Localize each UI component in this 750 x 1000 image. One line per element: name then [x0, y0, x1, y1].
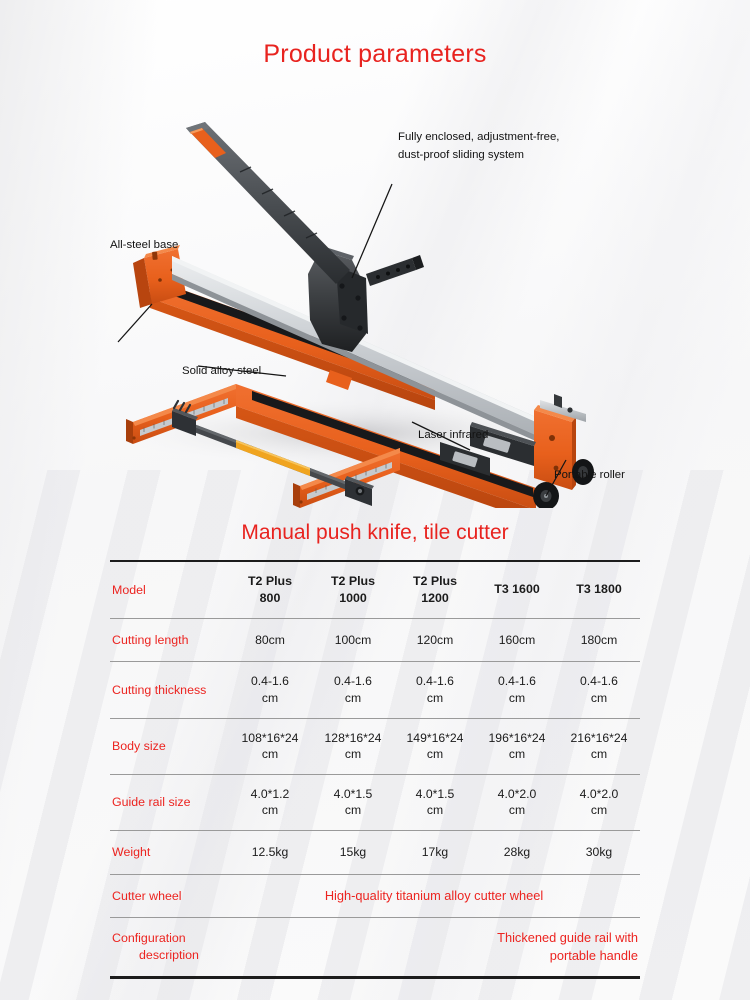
- model-cell-3-line1: T2 Plus: [396, 573, 474, 590]
- guide-rail-1-line1: 4.0*1.2: [230, 786, 310, 803]
- guide-rail-4: 4.0*2.0 cm: [476, 774, 558, 830]
- cutter-wheel-value: High-quality titanium alloy cutter wheel: [228, 874, 640, 918]
- row-label-weight: Weight: [110, 830, 228, 874]
- config-value-line1: Thickened guide rail with: [230, 929, 638, 947]
- table-row-cutter-wheel: Cutter wheel High-quality titanium alloy…: [110, 874, 640, 918]
- cutting-thickness-2: 0.4-1.6 cm: [312, 662, 394, 718]
- guide-rail-3-line1: 4.0*1.5: [396, 786, 474, 803]
- leader-sliding-system: [352, 184, 392, 278]
- body-size-5-line1: 216*16*24: [560, 730, 638, 747]
- table-row-weight: Weight 12.5kg 15kg 17kg 28kg 30kg: [110, 830, 640, 874]
- table-row-configuration-description: Configuration description Thickened guid…: [110, 918, 640, 978]
- body-size-3-line2: cm: [396, 746, 474, 763]
- cutting-thickness-4-line1: 0.4-1.6: [478, 673, 556, 690]
- body-size-1: 108*16*24 cm: [228, 718, 312, 774]
- table-row-cutting-length: Cutting length 80cm 100cm 120cm 160cm 18…: [110, 618, 640, 662]
- guide-rail-5-line1: 4.0*2.0: [560, 786, 638, 803]
- model-cell-1-line1: T2 Plus: [230, 573, 310, 590]
- weight-2: 15kg: [312, 830, 394, 874]
- model-cell-2-line1: T2 Plus: [314, 573, 392, 590]
- section-subtitle: Manual push knife, tile cutter: [0, 521, 750, 545]
- model-cell-4-line1: T3 1600: [478, 581, 556, 598]
- config-label-line2: description: [112, 947, 226, 964]
- model-cell-3: T2 Plus 1200: [394, 561, 476, 618]
- leader-all-steel-base: [118, 304, 152, 342]
- model-cell-5-line1: T3 1800: [560, 581, 638, 598]
- row-label-guide-rail-size: Guide rail size: [110, 774, 228, 830]
- callout-laser-infrared: Laser infrared: [418, 429, 488, 441]
- guide-rail-4-line1: 4.0*2.0: [478, 786, 556, 803]
- model-cell-1-line2: 800: [230, 590, 310, 607]
- config-label-line1: Configuration: [112, 930, 226, 947]
- model-cell-5: T3 1800: [558, 561, 640, 618]
- row-label-configuration-description: Configuration description: [110, 918, 228, 978]
- table-row-body-size: Body size 108*16*24 cm 128*16*24 cm 149*…: [110, 718, 640, 774]
- cutting-thickness-1-line2: cm: [230, 690, 310, 707]
- guide-rail-3: 4.0*1.5 cm: [394, 774, 476, 830]
- configuration-description-value: Thickened guide rail with portable handl…: [228, 918, 640, 978]
- guide-rail-5: 4.0*2.0 cm: [558, 774, 640, 830]
- row-label-cutter-wheel: Cutter wheel: [110, 874, 228, 918]
- cutting-length-3: 120cm: [394, 618, 476, 662]
- body-size-1-line2: cm: [230, 746, 310, 763]
- cutting-thickness-5-line2: cm: [560, 690, 638, 707]
- cutting-thickness-5-line1: 0.4-1.6: [560, 673, 638, 690]
- body-size-5-line2: cm: [560, 746, 638, 763]
- model-cell-3-line2: 1200: [396, 590, 474, 607]
- guide-rail-2-line1: 4.0*1.5: [314, 786, 392, 803]
- body-size-4-line1: 196*16*24: [478, 730, 556, 747]
- body-size-5: 216*16*24 cm: [558, 718, 640, 774]
- cutting-thickness-1-line1: 0.4-1.6: [230, 673, 310, 690]
- weight-1: 12.5kg: [228, 830, 312, 874]
- cutting-thickness-4-line2: cm: [478, 690, 556, 707]
- body-size-3: 149*16*24 cm: [394, 718, 476, 774]
- weight-4: 28kg: [476, 830, 558, 874]
- spec-table-container: Model T2 Plus 800 T2 Plus 1000 T2 Plus 1…: [110, 560, 640, 979]
- rear-base-beam: [150, 278, 435, 410]
- callout-sliding-system-line2: dust-proof sliding system: [398, 149, 524, 161]
- body-size-1-line1: 108*16*24: [230, 730, 310, 747]
- cutting-thickness-3-line1: 0.4-1.6: [396, 673, 474, 690]
- guide-rail-4-line2: cm: [478, 802, 556, 819]
- product-illustration: Fully enclosed, adjustment-free, dust-pr…: [0, 108, 750, 508]
- cutting-length-1: 80cm: [228, 618, 312, 662]
- page-title: Product parameters: [0, 40, 750, 69]
- cutting-thickness-2-line2: cm: [314, 690, 392, 707]
- row-label-body-size: Body size: [110, 718, 228, 774]
- row-label-cutting-length: Cutting length: [110, 618, 228, 662]
- body-size-2-line1: 128*16*24: [314, 730, 392, 747]
- body-size-2: 128*16*24 cm: [312, 718, 394, 774]
- cutting-length-5: 180cm: [558, 618, 640, 662]
- guide-rail-5-line2: cm: [560, 802, 638, 819]
- model-cell-1: T2 Plus 800: [228, 561, 312, 618]
- cutting-thickness-4: 0.4-1.6 cm: [476, 662, 558, 718]
- row-label-model: Model: [110, 561, 228, 618]
- cutting-thickness-3: 0.4-1.6 cm: [394, 662, 476, 718]
- guide-rail-3-line2: cm: [396, 802, 474, 819]
- cutting-thickness-3-line2: cm: [396, 690, 474, 707]
- weight-5: 30kg: [558, 830, 640, 874]
- guide-rail-1-line2: cm: [230, 802, 310, 819]
- body-size-2-line2: cm: [314, 746, 392, 763]
- row-label-cutting-thickness: Cutting thickness: [110, 662, 228, 718]
- body-size-3-line1: 149*16*24: [396, 730, 474, 747]
- spec-table: Model T2 Plus 800 T2 Plus 1000 T2 Plus 1…: [110, 560, 640, 979]
- table-row-model: Model T2 Plus 800 T2 Plus 1000 T2 Plus 1…: [110, 561, 640, 618]
- cutting-length-2: 100cm: [312, 618, 394, 662]
- table-row-guide-rail-size: Guide rail size 4.0*1.2 cm 4.0*1.5 cm 4.…: [110, 774, 640, 830]
- model-cell-4: T3 1600: [476, 561, 558, 618]
- cutting-length-4: 160cm: [476, 618, 558, 662]
- cutting-thickness-1: 0.4-1.6 cm: [228, 662, 312, 718]
- body-size-4-line2: cm: [478, 746, 556, 763]
- model-cell-2-line2: 1000: [314, 590, 392, 607]
- guide-rail-2-line2: cm: [314, 802, 392, 819]
- guide-rail-2: 4.0*1.5 cm: [312, 774, 394, 830]
- weight-3: 17kg: [394, 830, 476, 874]
- config-value-line2: portable handle: [230, 947, 638, 965]
- callout-portable-roller: Portable roller: [554, 469, 625, 481]
- callout-all-steel-base: All-steel base: [110, 239, 178, 251]
- guide-rail-1: 4.0*1.2 cm: [228, 774, 312, 830]
- callout-sliding-system-line1: Fully enclosed, adjustment-free,: [398, 131, 559, 143]
- model-cell-2: T2 Plus 1000: [312, 561, 394, 618]
- cutting-thickness-2-line1: 0.4-1.6: [314, 673, 392, 690]
- table-row-cutting-thickness: Cutting thickness 0.4-1.6 cm 0.4-1.6 cm …: [110, 662, 640, 718]
- body-size-4: 196*16*24 cm: [476, 718, 558, 774]
- callout-solid-alloy-steel: Solid alloy steel: [182, 365, 261, 377]
- cutting-thickness-5: 0.4-1.6 cm: [558, 662, 640, 718]
- push-handle: [186, 122, 350, 284]
- breaker-bar: [366, 255, 424, 286]
